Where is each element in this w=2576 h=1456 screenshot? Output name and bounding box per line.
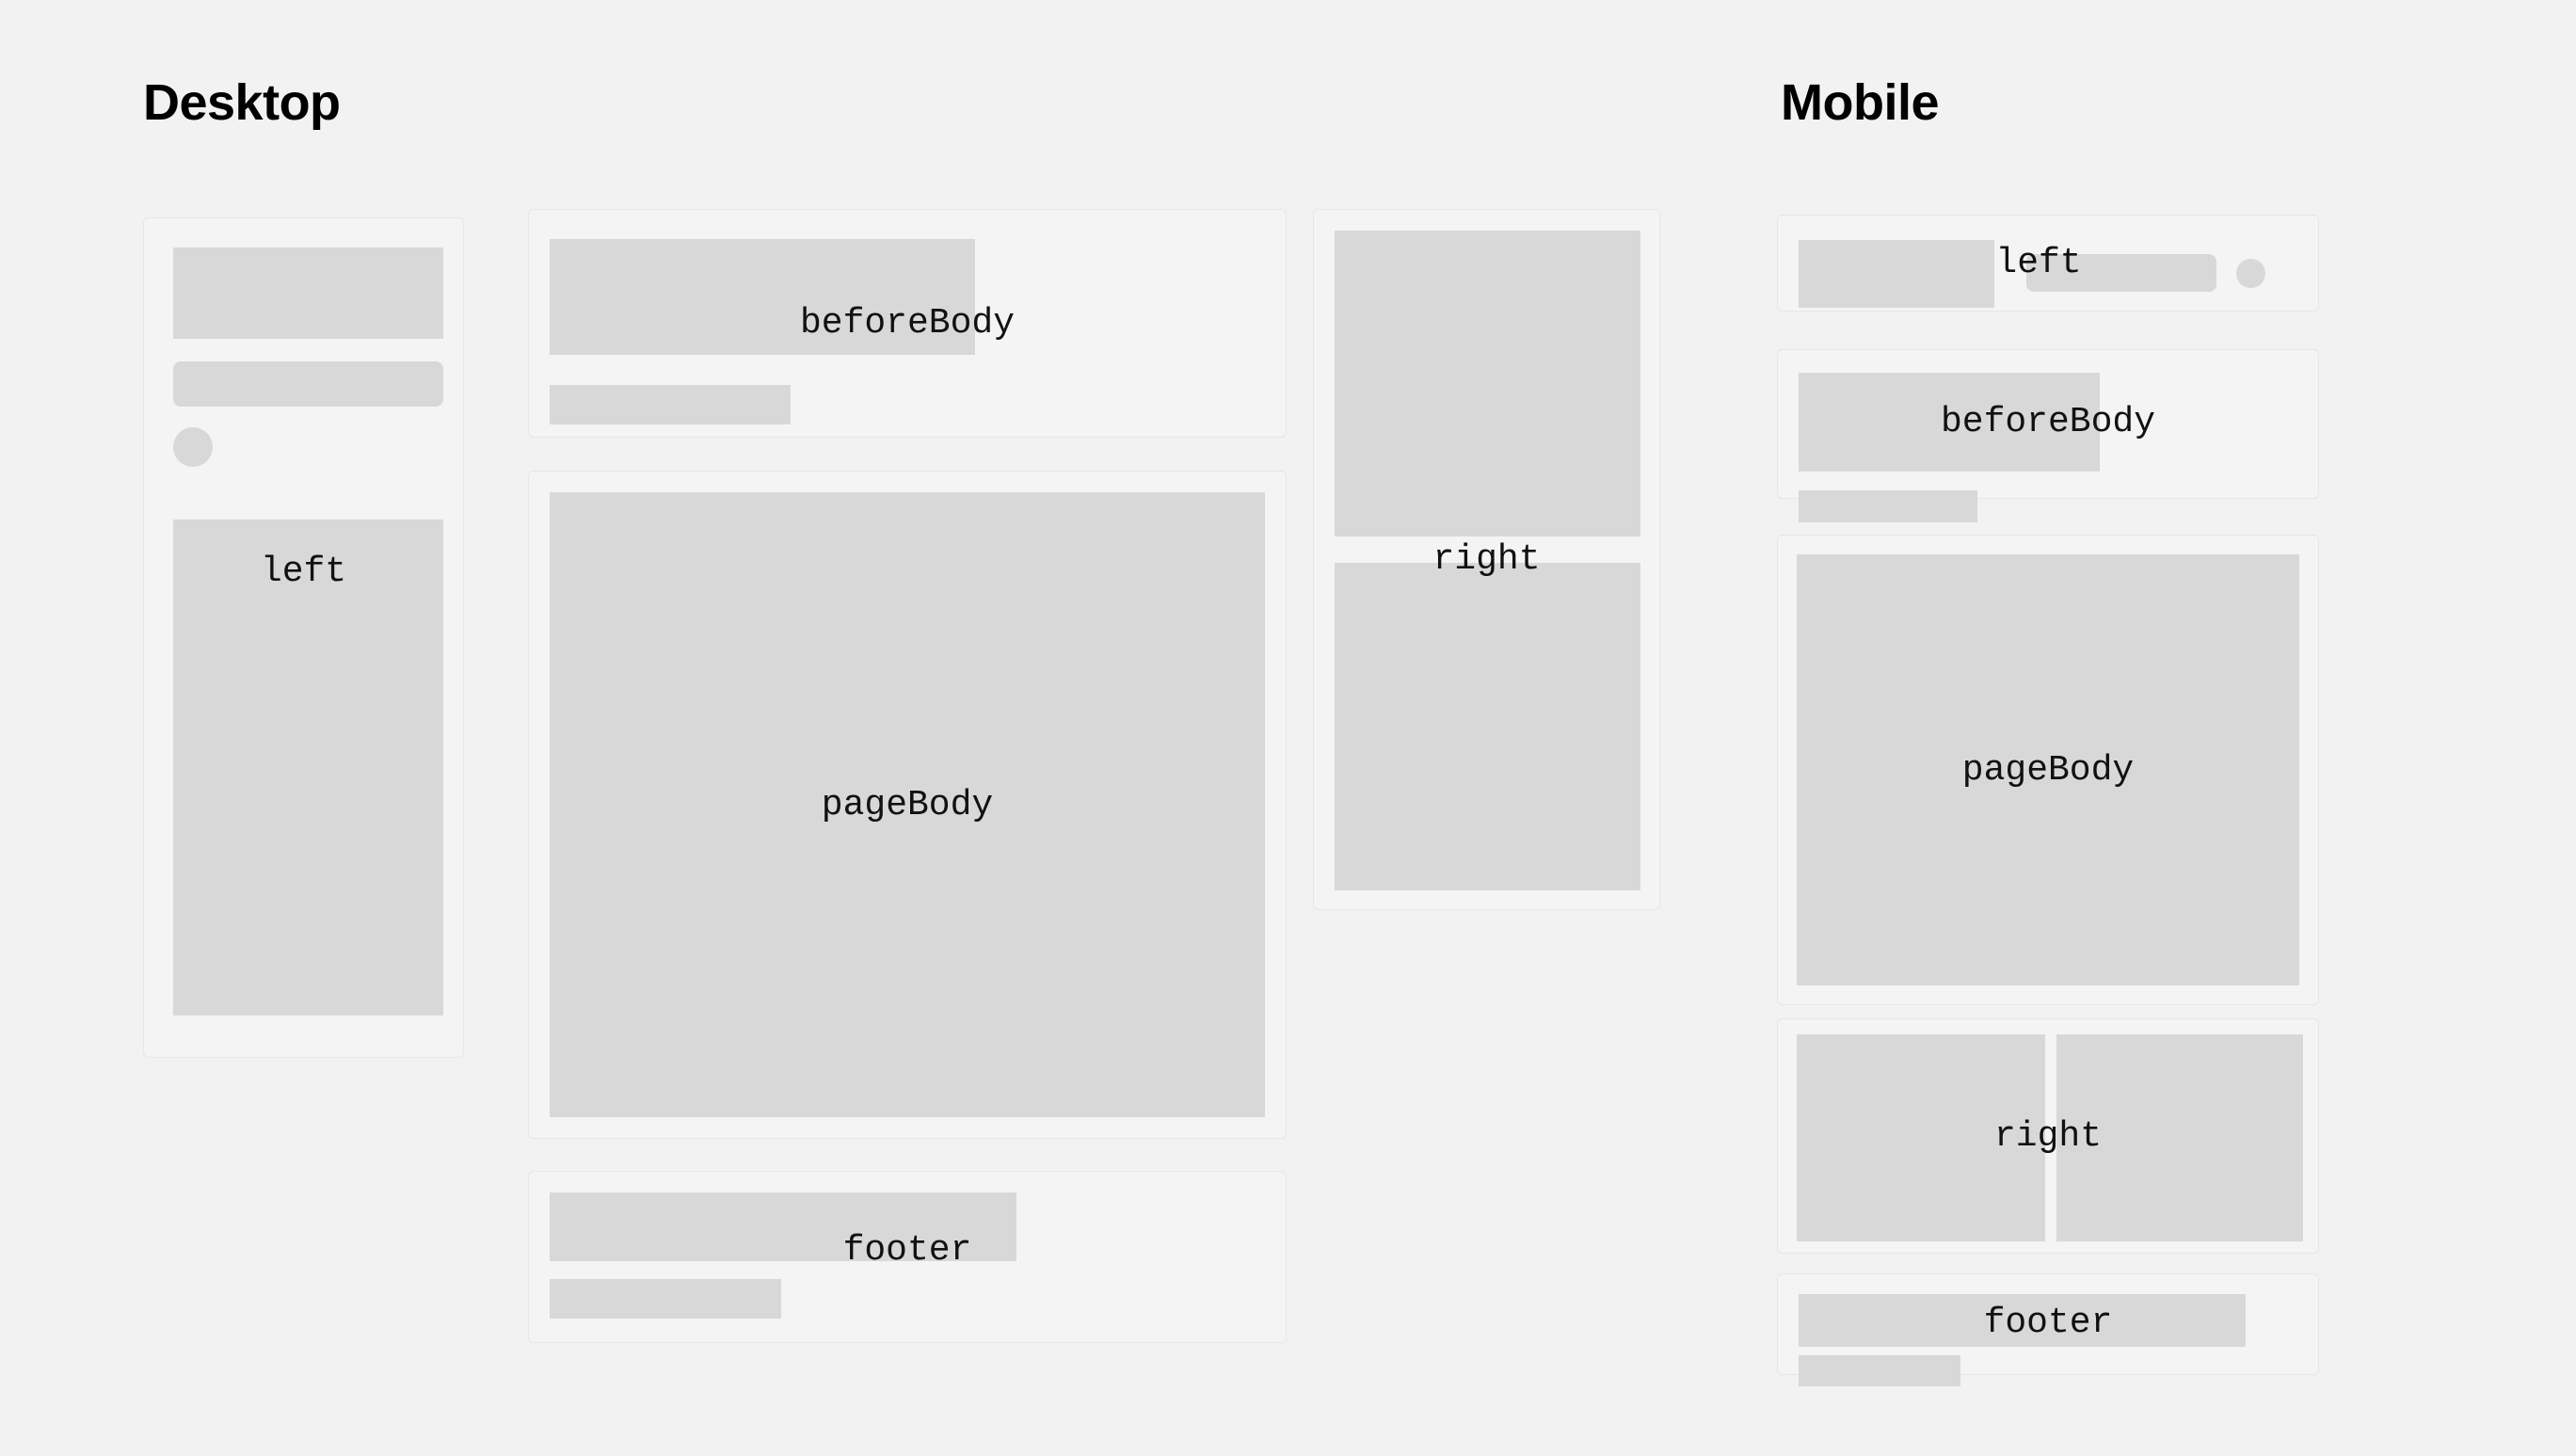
desktop-region-beforebody[interactable] [528,209,1287,438]
desktop-column-heading: Desktop [143,77,341,128]
mobile-column-heading: Mobile [1781,77,1939,128]
skeleton-left-column-block [1797,1034,2045,1241]
skeleton-header-block [173,248,443,339]
skeleton-lower-block [1335,563,1640,890]
mobile-region-right[interactable] [1777,1018,2319,1254]
skeleton-avatar-circle [2236,259,2265,288]
skeleton-avatar-circle [173,427,213,467]
skeleton-primary-bar [1799,1294,2246,1347]
skeleton-primary-block [550,239,975,355]
mobile-region-left[interactable] [1777,215,2319,312]
desktop-region-footer[interactable] [528,1171,1287,1343]
mobile-region-pagebody[interactable] [1777,535,2319,1005]
skeleton-secondary-bar [550,385,791,424]
skeleton-body-block [550,492,1265,1117]
skeleton-body-block [1797,554,2299,985]
responsive-layout-preview: { "page": { "background_color": "#f2f2f2… [0,0,2576,1456]
desktop-region-left[interactable] [143,217,464,1058]
desktop-region-right[interactable] [1313,209,1660,910]
skeleton-upper-block [1335,231,1640,536]
skeleton-subheader-bar [173,361,443,407]
skeleton-content-block [173,520,443,1016]
mobile-region-footer[interactable] [1777,1273,2319,1375]
skeleton-right-column-block [2056,1034,2303,1241]
skeleton-primary-block [1799,373,2100,472]
mobile-region-beforebody[interactable] [1777,349,2319,499]
skeleton-secondary-bar [1799,1355,1960,1386]
skeleton-header-block [1799,240,1994,308]
skeleton-subheader-bar [2026,254,2216,292]
skeleton-secondary-bar [550,1279,781,1319]
skeleton-secondary-bar [1799,490,1977,522]
skeleton-primary-bar [550,1192,1016,1261]
desktop-region-pagebody[interactable] [528,471,1287,1139]
